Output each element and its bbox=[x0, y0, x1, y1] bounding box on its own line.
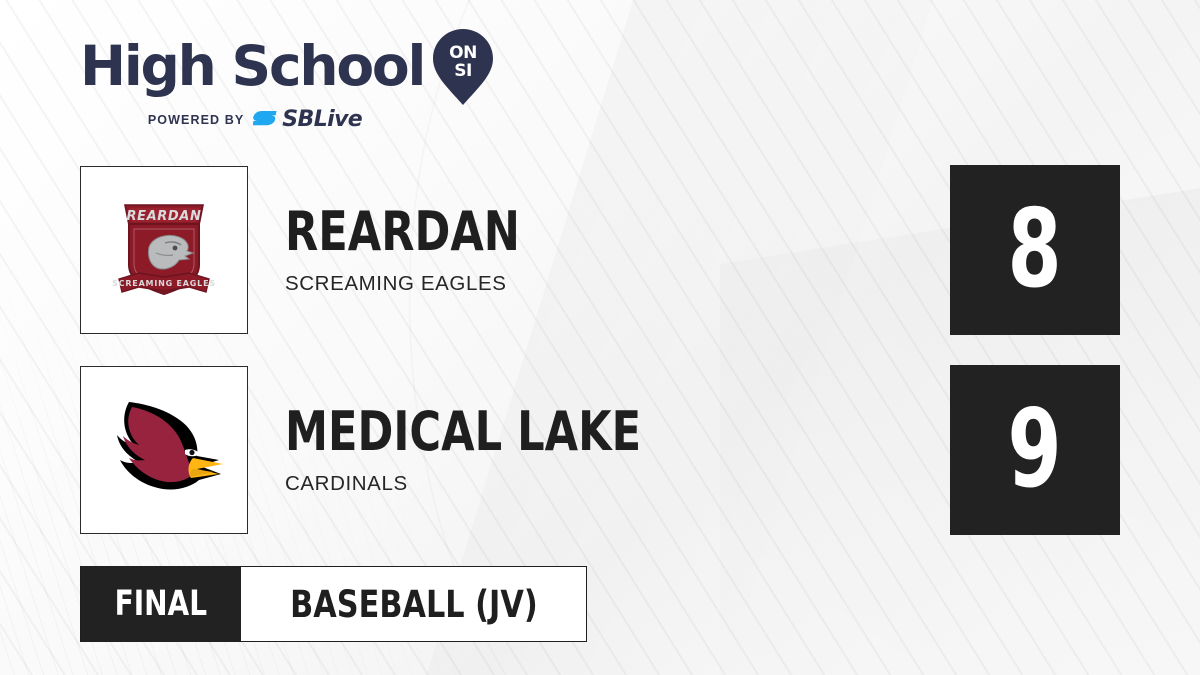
team-logo-box: REARDAN SCREAMING EAGLES bbox=[80, 166, 248, 334]
team-info: MEDICAL LAKE CARDINALS bbox=[285, 405, 950, 496]
powered-by-row: POWERED BY SBLive bbox=[80, 109, 430, 131]
team-mascot: SCREAMING EAGLES bbox=[285, 272, 950, 296]
game-state-label: FINAL bbox=[115, 587, 208, 622]
team-mascot: CARDINALS bbox=[285, 472, 950, 496]
brand-wordmark: High School bbox=[80, 39, 424, 94]
team-score: 8 bbox=[1008, 196, 1062, 304]
crest-school-text: REARDAN bbox=[127, 209, 202, 224]
brand-header: High School ON SI POWERED BY SBLive bbox=[80, 34, 510, 134]
team-row: REARDAN SCREAMING EAGLES REARDAN SCREAMI… bbox=[80, 165, 1120, 335]
powered-by-label: POWERED BY bbox=[148, 113, 244, 127]
crest-mascot-text: SCREAMING EAGLES bbox=[112, 279, 216, 288]
sblive-logo: SBLive bbox=[253, 109, 362, 131]
brand-logo-row: High School ON SI bbox=[80, 34, 510, 98]
team-score-box: 9 bbox=[950, 365, 1120, 535]
team-name: MEDICAL LAKE bbox=[285, 405, 817, 459]
team-logo-box bbox=[80, 366, 248, 534]
sport-badge: BASEBALL (JV) bbox=[241, 567, 587, 641]
team-name: REARDAN bbox=[285, 205, 817, 259]
status-bar: FINAL BASEBALL (JV) bbox=[80, 566, 587, 642]
game-state-badge: FINAL bbox=[81, 567, 241, 641]
on-si-pin-icon: ON SI bbox=[432, 28, 494, 106]
sblive-s-icon bbox=[253, 109, 279, 131]
pin-label-on: ON bbox=[449, 43, 477, 63]
team-row: MEDICAL LAKE CARDINALS 9 bbox=[80, 365, 1120, 535]
medical-lake-cardinals-bird-icon bbox=[101, 390, 227, 510]
team-info: REARDAN SCREAMING EAGLES bbox=[285, 205, 950, 296]
scoreboard-graphic: High School ON SI POWERED BY SBLive bbox=[0, 0, 1200, 675]
team-score-box: 8 bbox=[950, 165, 1120, 335]
team-score: 9 bbox=[1008, 396, 1062, 504]
reardan-screaming-eagles-crest-icon: REARDAN SCREAMING EAGLES bbox=[109, 191, 219, 309]
sblive-wordmark: SBLive bbox=[282, 109, 362, 131]
sport-label: BASEBALL (JV) bbox=[290, 586, 538, 623]
pin-label-si: SI bbox=[454, 61, 472, 81]
